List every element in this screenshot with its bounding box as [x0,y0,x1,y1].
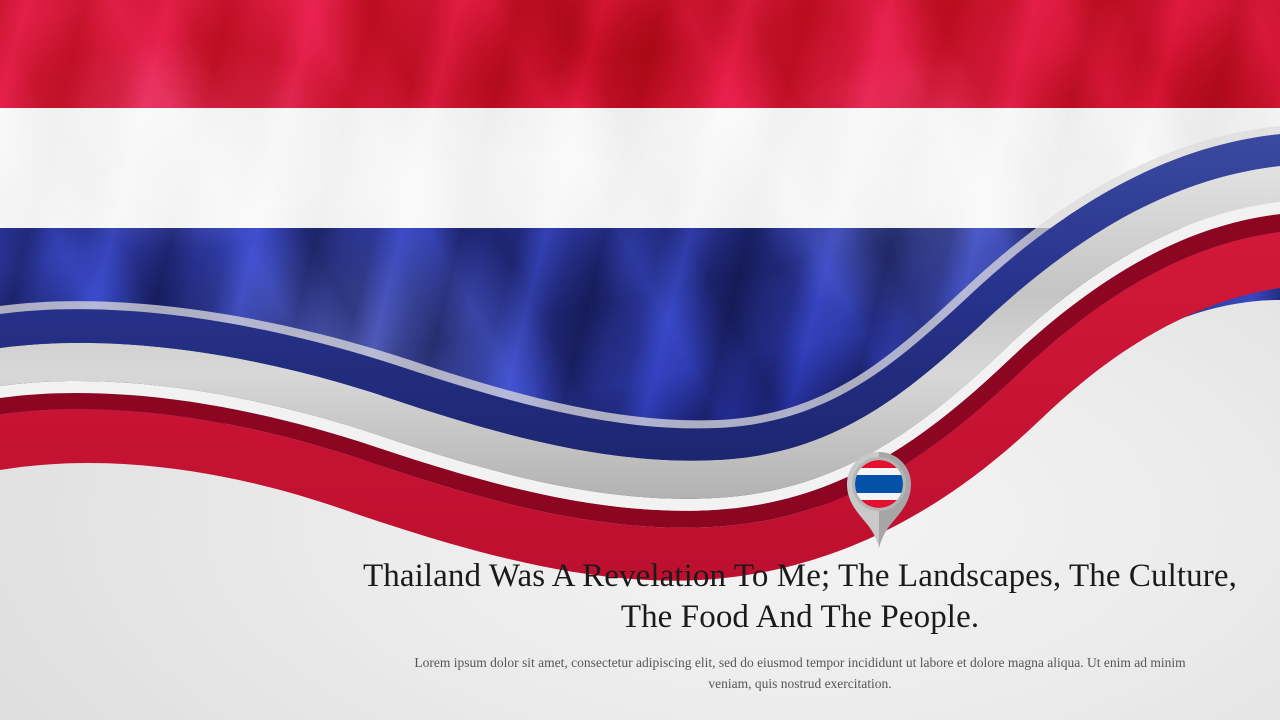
slide-canvas: Thailand Was A Revelation To Me; The Lan… [0,0,1280,720]
caption-block: Thailand Was A Revelation To Me; The Lan… [340,556,1260,694]
page-title: Thailand Was A Revelation To Me; The Lan… [340,556,1260,638]
pin-flag-stripes [855,460,903,508]
pin-flag-blue [855,475,903,493]
pin-flag-white-upper [855,468,903,475]
pin-flag-white-lower [855,493,903,500]
page-subtitle: Lorem ipsum dolor sit amet, consectetur … [340,652,1260,694]
